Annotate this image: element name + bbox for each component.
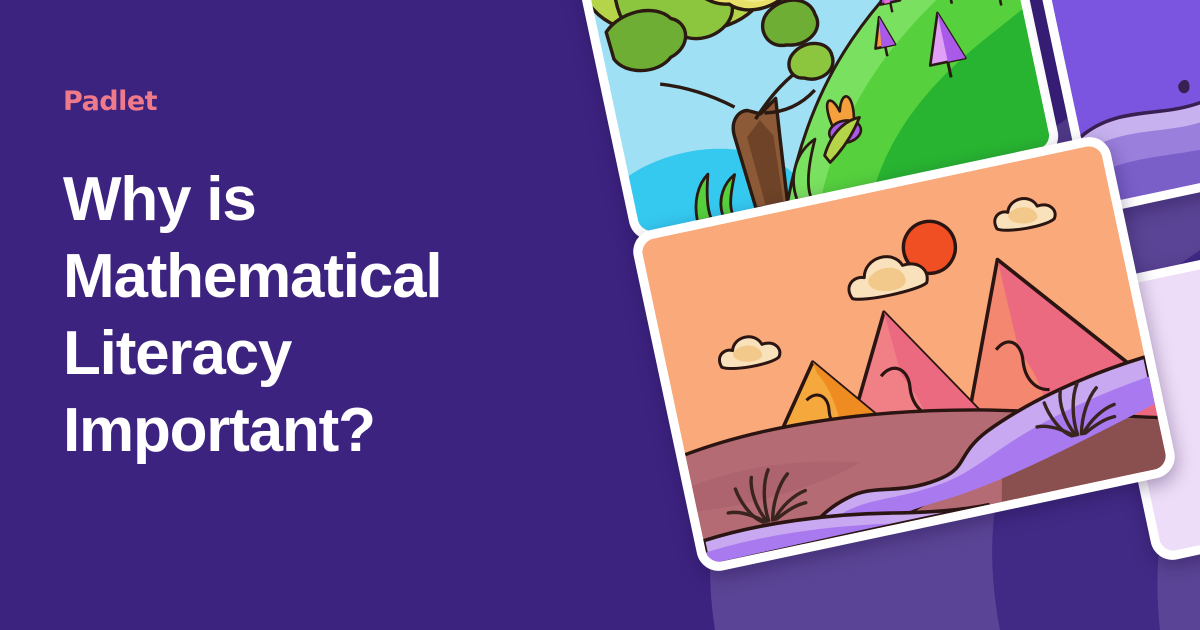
headline-line-2: Mathematical (63, 238, 441, 315)
text-column: Padlet Why is Mathematical Literacy Impo… (63, 88, 441, 469)
headline-line-1: Why is (63, 161, 441, 238)
og-card-canvas: Padlet Why is Mathematical Literacy Impo… (0, 0, 1200, 630)
headline-line-3: Literacy (63, 315, 441, 392)
page-title: Why is Mathematical Literacy Important? (63, 161, 441, 469)
headline-line-4: Important? (63, 392, 441, 469)
padlet-logo[interactable]: Padlet (63, 88, 441, 115)
